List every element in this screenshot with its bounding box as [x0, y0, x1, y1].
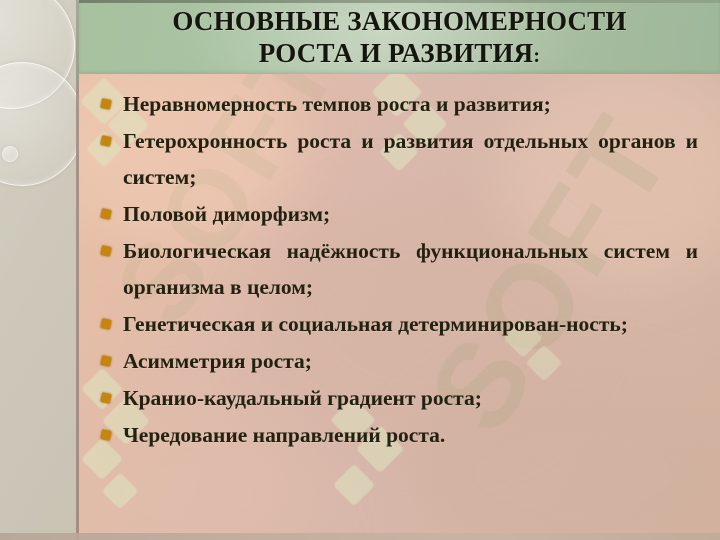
decorative-circle-medium-icon: [0, 62, 84, 186]
slide-content-panel: ОСНОВНЫЕ ЗАКОНОМЕРНОСТИ РОСТА И РАЗВИТИЯ…: [79, 0, 720, 540]
decorative-circle-small-icon: [2, 146, 18, 162]
slide-body: SOFT SOFT: [79, 74, 720, 540]
title-line-2-text: РОСТА И РАЗВИТИЯ: [259, 38, 534, 68]
list-item: Половой диморфизм;: [97, 196, 698, 232]
slide-canvas: ОСНОВНЫЕ ЗАКОНОМЕРНОСТИ РОСТА И РАЗВИТИЯ…: [0, 0, 720, 540]
title-line-1: ОСНОВНЫЕ ЗАКОНОМЕРНОСТИ: [172, 6, 626, 36]
list-item: Неравномерность темпов роста и развития;: [97, 86, 698, 122]
list-item: Гетерохронность роста и развития отдельн…: [97, 123, 698, 195]
page-title: ОСНОВНЫЕ ЗАКОНОМЕРНОСТИ РОСТА И РАЗВИТИЯ…: [79, 0, 720, 72]
bullet-list: Неравномерность темпов роста и развития;…: [79, 74, 720, 453]
list-item: Чередование направлений роста.: [97, 417, 698, 453]
list-item: Кранио-каудальный градиент роста;: [97, 380, 698, 416]
title-band: ОСНОВНЫЕ ЗАКОНОМЕРНОСТИ РОСТА И РАЗВИТИЯ…: [79, 0, 720, 74]
left-margin-strip: [0, 0, 79, 540]
list-item: Генетическая и социальная детерминирован…: [97, 306, 698, 342]
title-colon: :: [533, 45, 540, 67]
title-line-2: РОСТА И РАЗВИТИЯ:: [79, 37, 720, 72]
bottom-edge-strip: [0, 533, 720, 540]
list-item: Асимметрия роста;: [97, 343, 698, 379]
list-item: Биологическая надёжность функциональных …: [97, 233, 698, 305]
